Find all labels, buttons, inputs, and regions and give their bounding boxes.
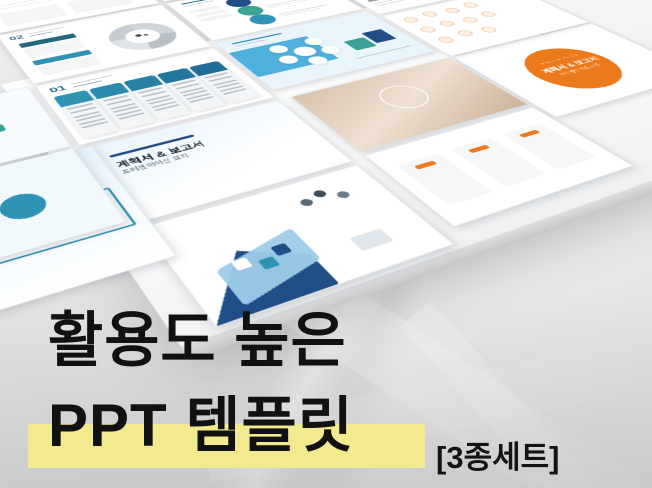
headline-line-1: 활용도 높은 — [48, 311, 347, 371]
set-count-badge: [3종세트] — [436, 432, 559, 477]
thumbnail-stage: 01 — [0, 0, 652, 488]
headline-line-2: PPT 템플릿 — [48, 396, 354, 456]
